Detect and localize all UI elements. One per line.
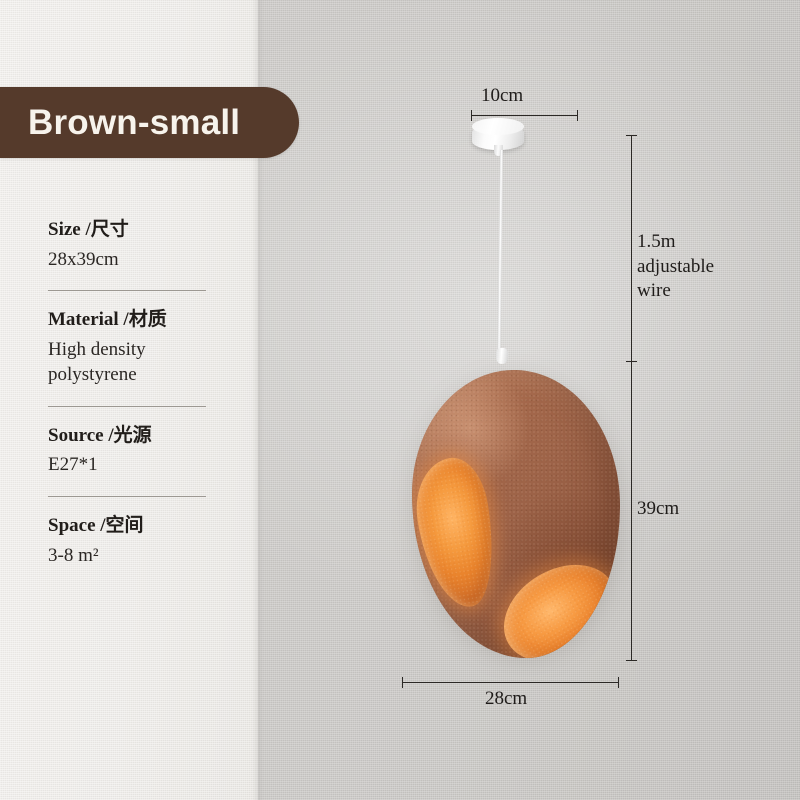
suspension-wire <box>497 150 503 358</box>
dimension-line-shade-width <box>402 682 619 683</box>
dimension-tick-shade-left <box>402 677 403 688</box>
dimension-tick-canopy-left <box>471 110 472 121</box>
dimension-tick-shade-right <box>618 677 619 688</box>
pendant-lamp <box>0 0 800 800</box>
dimension-label-wire-length: 1.5m adjustable wire <box>637 230 714 304</box>
dimension-label-canopy-width: 10cm <box>481 84 523 109</box>
dimension-tick-wire-top <box>626 135 637 136</box>
dimension-tick-shade-bottom <box>626 660 637 661</box>
canopy-top-face <box>472 118 524 135</box>
dimension-line-shade-height <box>631 361 632 661</box>
dimension-line-canopy-width <box>471 115 578 116</box>
dimension-label-shade-height: 39cm <box>637 497 679 522</box>
dimension-tick-canopy-right <box>577 110 578 121</box>
dimension-line-wire-length <box>631 135 632 361</box>
lamp-shade <box>405 362 625 662</box>
product-spec-image: Brown-small Size /尺寸 28x39cm Material /材… <box>0 0 800 800</box>
ceiling-canopy <box>472 118 524 156</box>
shade-body <box>412 370 620 658</box>
dimension-label-shade-width: 28cm <box>485 687 527 712</box>
